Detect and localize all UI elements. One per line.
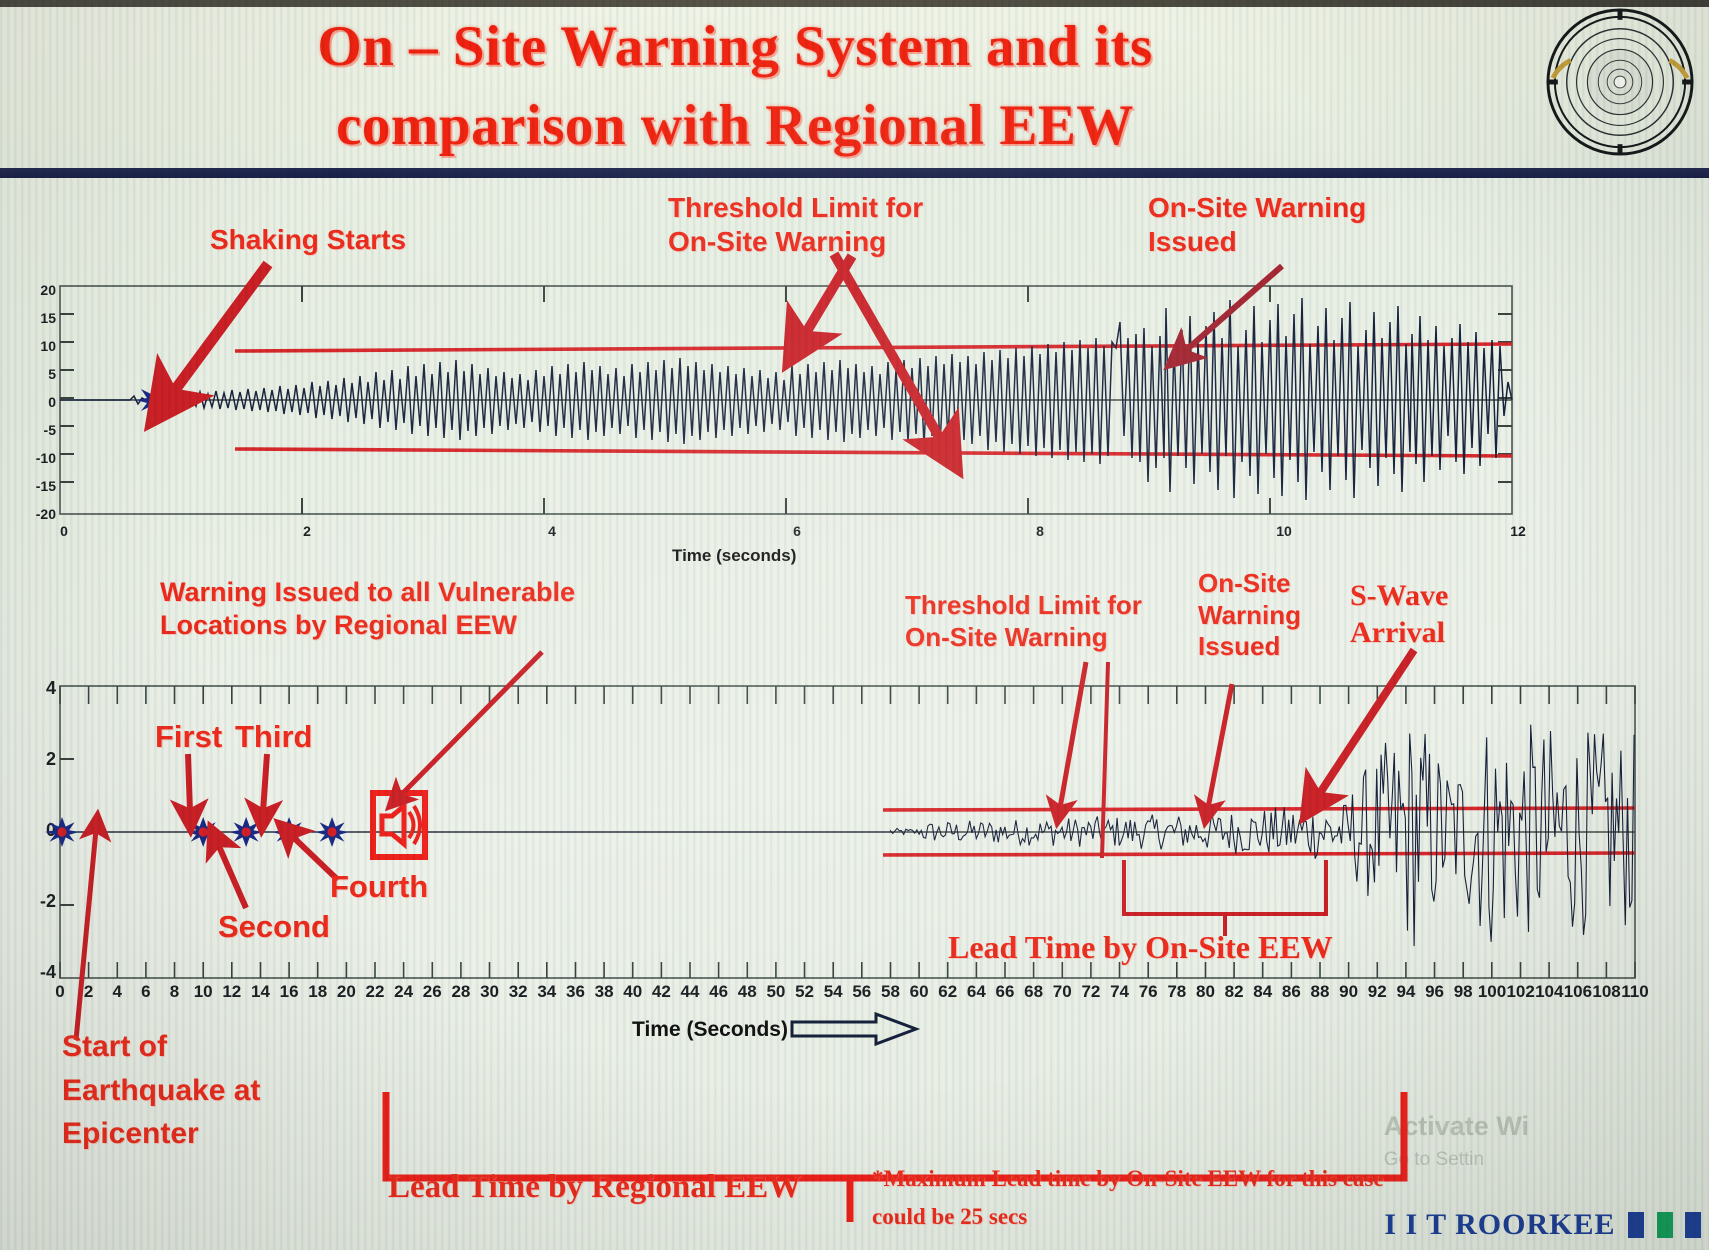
bottom-xtick-28: 28 — [447, 982, 475, 1002]
lead-time-onsite-bracket — [1120, 858, 1340, 938]
top-ytick-20: 20 — [26, 282, 56, 298]
bottom-xtick-60: 60 — [905, 982, 933, 1002]
top-ytick-m10: -10 — [20, 450, 56, 466]
bottom-xtick-20: 20 — [332, 982, 360, 1002]
bottom-xtick-68: 68 — [1020, 982, 1048, 1002]
bottom-xtick-88: 88 — [1306, 982, 1334, 1002]
arrow-start-of-earthquake — [60, 818, 120, 1048]
annotation-lead-time-onsite: Lead Time by On-Site EEW — [948, 928, 1333, 967]
top-xtick-6: 6 — [785, 523, 809, 539]
page-title: On – Site Warning System and its compari… — [120, 8, 1350, 165]
top-ytick-15: 15 — [26, 310, 56, 326]
arrow-threshold-lower — [820, 246, 990, 466]
annotation-shaking-starts: Shaking Starts — [210, 223, 406, 257]
bottom-xtick-78: 78 — [1163, 982, 1191, 1002]
bottom-xtick-94: 94 — [1392, 982, 1420, 1002]
bottom-xtick-52: 52 — [791, 982, 819, 1002]
bottom-xtick-56: 56 — [848, 982, 876, 1002]
bottom-xtick-30: 30 — [476, 982, 504, 1002]
bottom-ytick-2: 2 — [34, 749, 56, 770]
bottom-xtick-36: 36 — [561, 982, 589, 1002]
top-ytick-10: 10 — [26, 338, 56, 354]
bottom-xtick-96: 96 — [1421, 982, 1449, 1002]
top-xtick-4: 4 — [540, 523, 564, 539]
bottom-xtick-34: 34 — [533, 982, 561, 1002]
annotation-second: Second — [218, 908, 330, 946]
top-xtick-10: 10 — [1272, 523, 1296, 539]
bottom-xtick-8: 8 — [161, 982, 189, 1002]
bottom-xtick-70: 70 — [1048, 982, 1076, 1002]
onsite-trigger-marker — [1090, 660, 1120, 860]
arrow-regional-warning — [330, 648, 560, 808]
bottom-xtick-18: 18 — [304, 982, 332, 1002]
bottom-xtick-104: 104 — [1535, 982, 1563, 1002]
arrow-first — [170, 750, 210, 828]
bottom-xaxis-label: Time (Seconds) — [632, 1018, 788, 1042]
annotation-fourth: Fourth — [330, 868, 428, 906]
top-y-ticks — [60, 314, 74, 482]
top-ytick-5: 5 — [26, 366, 56, 382]
bottom-xtick-50: 50 — [762, 982, 790, 1002]
bottom-xtick-labels: 0246810121416182022242628303234363840424… — [60, 982, 1635, 1010]
bottom-xtick-48: 48 — [733, 982, 761, 1002]
annotation-lead-time-regional: Lead Time by Regional EEW — [388, 1167, 801, 1207]
bottom-xtick-110: 110 — [1621, 982, 1649, 1002]
bottom-xtick-14: 14 — [246, 982, 274, 1002]
bottom-xtick-108: 108 — [1592, 982, 1620, 1002]
bottom-xtick-32: 32 — [504, 982, 532, 1002]
bottom-xtick-92: 92 — [1363, 982, 1391, 1002]
iit-roorkee-seal-icon — [1545, 6, 1695, 158]
bottom-xtick-26: 26 — [418, 982, 446, 1002]
header-divider — [0, 168, 1709, 178]
annotation-threshold-limit-bottom: Threshold Limit for On-Site Warning — [905, 590, 1142, 653]
bottom-xtick-76: 76 — [1134, 982, 1162, 1002]
arrow-onsite-warning-bottom — [1190, 680, 1250, 826]
arrow-s-wave-arrival — [1290, 644, 1430, 814]
annotation-start-of-earthquake: Start of Earthquake at Epicenter — [62, 1025, 260, 1156]
slide-header: On – Site Warning System and its compari… — [0, 0, 1709, 172]
annotation-s-wave-arrival: S-Wave Arrival — [1350, 578, 1448, 651]
footer-square-blue — [1628, 1212, 1644, 1238]
bottom-xtick-82: 82 — [1220, 982, 1248, 1002]
bottom-xtick-24: 24 — [390, 982, 418, 1002]
annotation-first: First — [155, 718, 222, 756]
page-title-line1: On – Site Warning System and its — [120, 8, 1350, 87]
bottom-xtick-54: 54 — [819, 982, 847, 1002]
top-xtick-12: 12 — [1506, 523, 1530, 539]
arrow-onsite-warning-top — [1160, 260, 1300, 370]
bottom-xtick-80: 80 — [1191, 982, 1219, 1002]
arrow-second — [200, 836, 260, 916]
bottom-xtick-72: 72 — [1077, 982, 1105, 1002]
time-direction-arrow-icon — [790, 1012, 920, 1046]
bottom-threshold-lower — [883, 853, 1635, 855]
bottom-xtick-46: 46 — [705, 982, 733, 1002]
bottom-xtick-10: 10 — [189, 982, 217, 1002]
bottom-xtick-84: 84 — [1249, 982, 1277, 1002]
top-ytick-0: 0 — [26, 394, 56, 410]
institute-footer-logo: I I T ROORKEE — [1384, 1208, 1701, 1242]
bottom-xtick-42: 42 — [647, 982, 675, 1002]
bottom-xtick-90: 90 — [1335, 982, 1363, 1002]
footer-square-blue-2 — [1685, 1212, 1701, 1238]
bottom-bottom-ticks — [60, 962, 1635, 978]
bottom-xtick-102: 102 — [1506, 982, 1534, 1002]
bottom-ytick-4: 4 — [34, 678, 56, 699]
bottom-ytick-m4: -4 — [26, 962, 56, 983]
top-xaxis-label: Time (seconds) — [672, 546, 796, 566]
bottom-xtick-74: 74 — [1106, 982, 1134, 1002]
arrow-shaking-starts — [150, 256, 290, 416]
bottom-xtick-86: 86 — [1277, 982, 1305, 1002]
annotation-third: Third — [235, 718, 313, 756]
slide-canvas: On – Site Warning System and its compari… — [0, 0, 1709, 1250]
annotation-onsite-warning-issued-top: On-Site Warning Issued — [1148, 191, 1366, 259]
bottom-xtick-12: 12 — [218, 982, 246, 1002]
annotation-regional-warning: Warning Issued to all Vulnerable Locatio… — [160, 576, 575, 642]
bottom-xtick-40: 40 — [619, 982, 647, 1002]
bottom-xtick-22: 22 — [361, 982, 389, 1002]
top-xtick-2: 2 — [295, 523, 319, 539]
bottom-xtick-100: 100 — [1478, 982, 1506, 1002]
header-top-edge — [0, 0, 1709, 7]
bottom-ytick-m2: -2 — [26, 891, 56, 912]
bottom-xtick-44: 44 — [676, 982, 704, 1002]
bottom-xtick-66: 66 — [991, 982, 1019, 1002]
annotation-onsite-warning-bottom: On-Site Warning Issued — [1198, 568, 1301, 663]
bottom-xtick-38: 38 — [590, 982, 618, 1002]
arrow-third — [245, 750, 285, 828]
top-ytick-m15: -15 — [20, 478, 56, 494]
footer-square-green — [1657, 1212, 1673, 1238]
bottom-xtick-6: 6 — [132, 982, 160, 1002]
top-seismogram-chart: Shaking Starts Threshold Limit for On-Si… — [0, 178, 1709, 568]
bottom-xtick-106: 106 — [1564, 982, 1592, 1002]
bottom-xtick-64: 64 — [962, 982, 990, 1002]
top-xtick-0: 0 — [52, 523, 76, 539]
bottom-xtick-62: 62 — [934, 982, 962, 1002]
bottom-xtick-58: 58 — [876, 982, 904, 1002]
bottom-xtick-98: 98 — [1449, 982, 1477, 1002]
page-title-line2: comparison with Regional EEW — [120, 87, 1350, 166]
top-ytick-m20: -20 — [20, 506, 56, 522]
top-ytick-m5: -5 — [20, 422, 56, 438]
top-xtick-8: 8 — [1028, 523, 1052, 539]
annotation-footnote-max-lead-time: *Maximum Lead time by On-Site EEW for th… — [872, 1160, 1384, 1236]
annotation-threshold-limit-top: Threshold Limit for On-Site Warning — [668, 191, 923, 259]
bottom-xtick-16: 16 — [275, 982, 303, 1002]
